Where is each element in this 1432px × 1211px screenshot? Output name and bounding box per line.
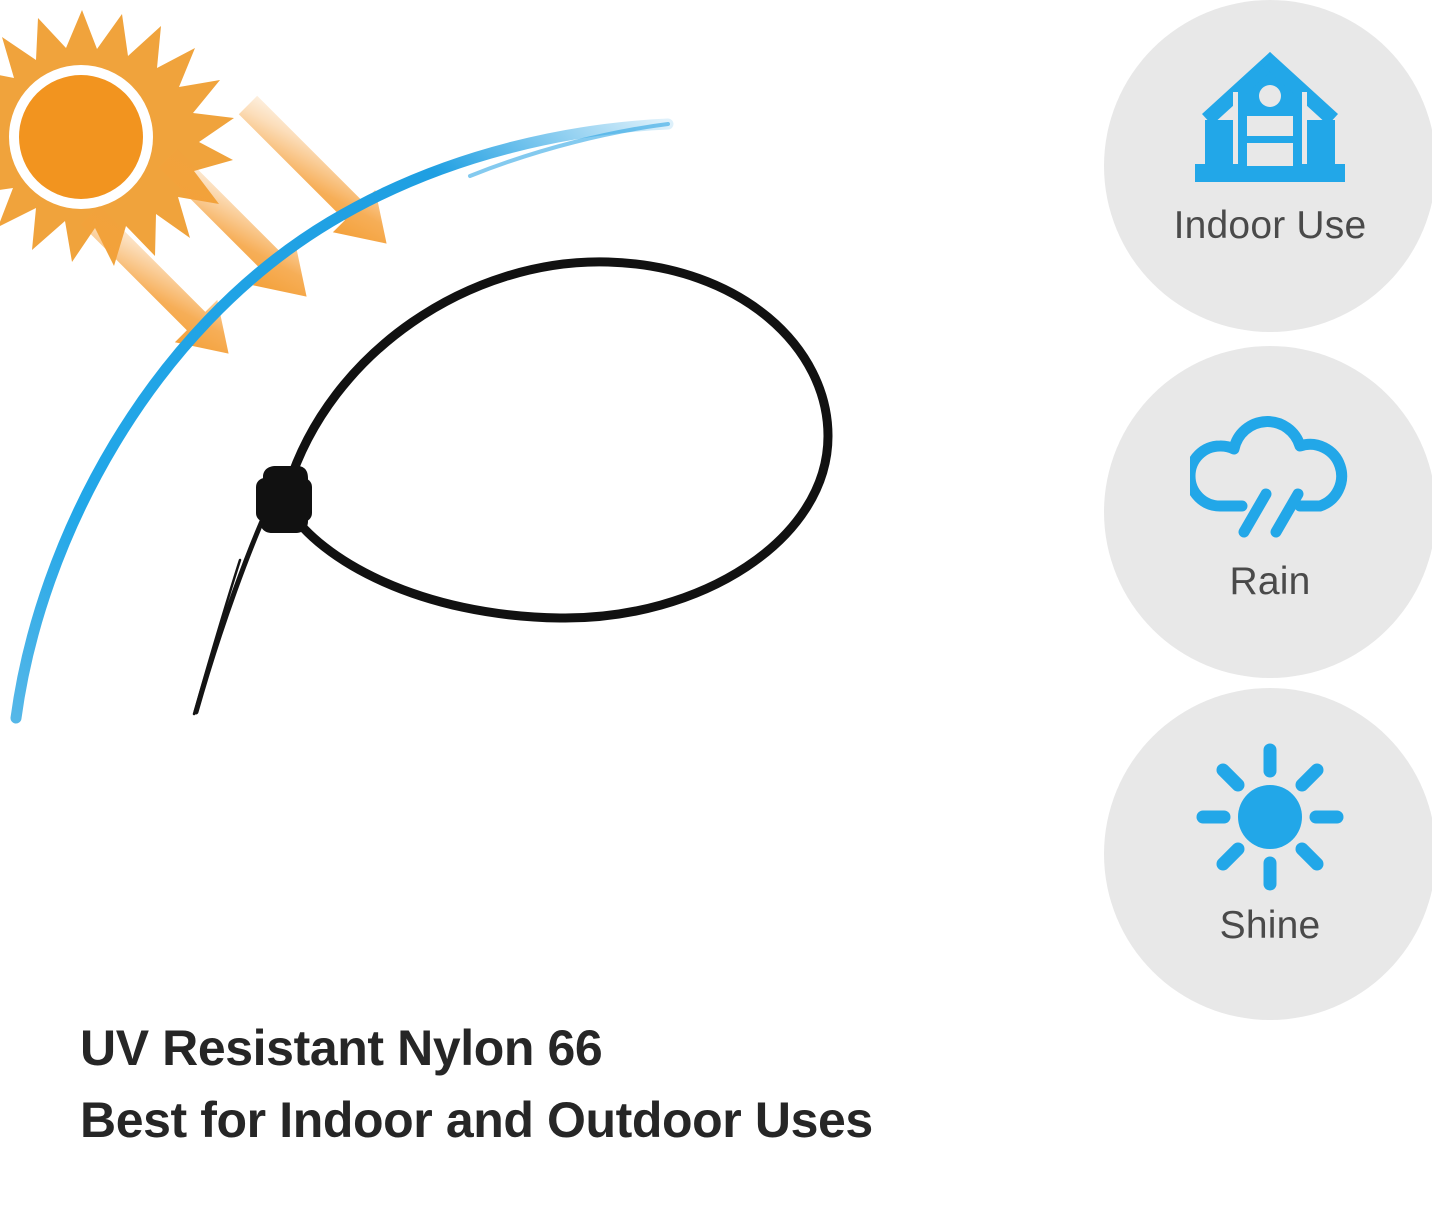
product-infographic: UV Resistant Nylon 66 Best for Indoor an… xyxy=(0,0,1432,1211)
feature-badge-shine: Shine xyxy=(1104,688,1432,1020)
illustration-svg xyxy=(0,0,1080,760)
headline-line-1: UV Resistant Nylon 66 xyxy=(80,1012,1040,1084)
sun-rays-icon xyxy=(1185,742,1355,892)
rain-cloud-icon xyxy=(1185,402,1355,544)
feature-badge-rain: Rain xyxy=(1104,346,1432,678)
headline-line-2: Best for Indoor and Outdoor Uses xyxy=(80,1084,1040,1156)
feature-badge-indoor-use: Indoor Use xyxy=(1104,0,1432,332)
page-title: UV Resistant Nylon 66 Best for Indoor an… xyxy=(80,1012,1040,1156)
house-icon xyxy=(1185,46,1355,196)
uv-resistance-illustration xyxy=(0,0,1080,760)
feature-badge-label: Shine xyxy=(1220,904,1321,948)
cable-tie-icon xyxy=(194,262,828,714)
feature-badge-label: Indoor Use xyxy=(1174,204,1367,248)
feature-badge-list: Indoor Use Rain xyxy=(1104,0,1432,1020)
feature-badge-label: Rain xyxy=(1229,560,1310,604)
